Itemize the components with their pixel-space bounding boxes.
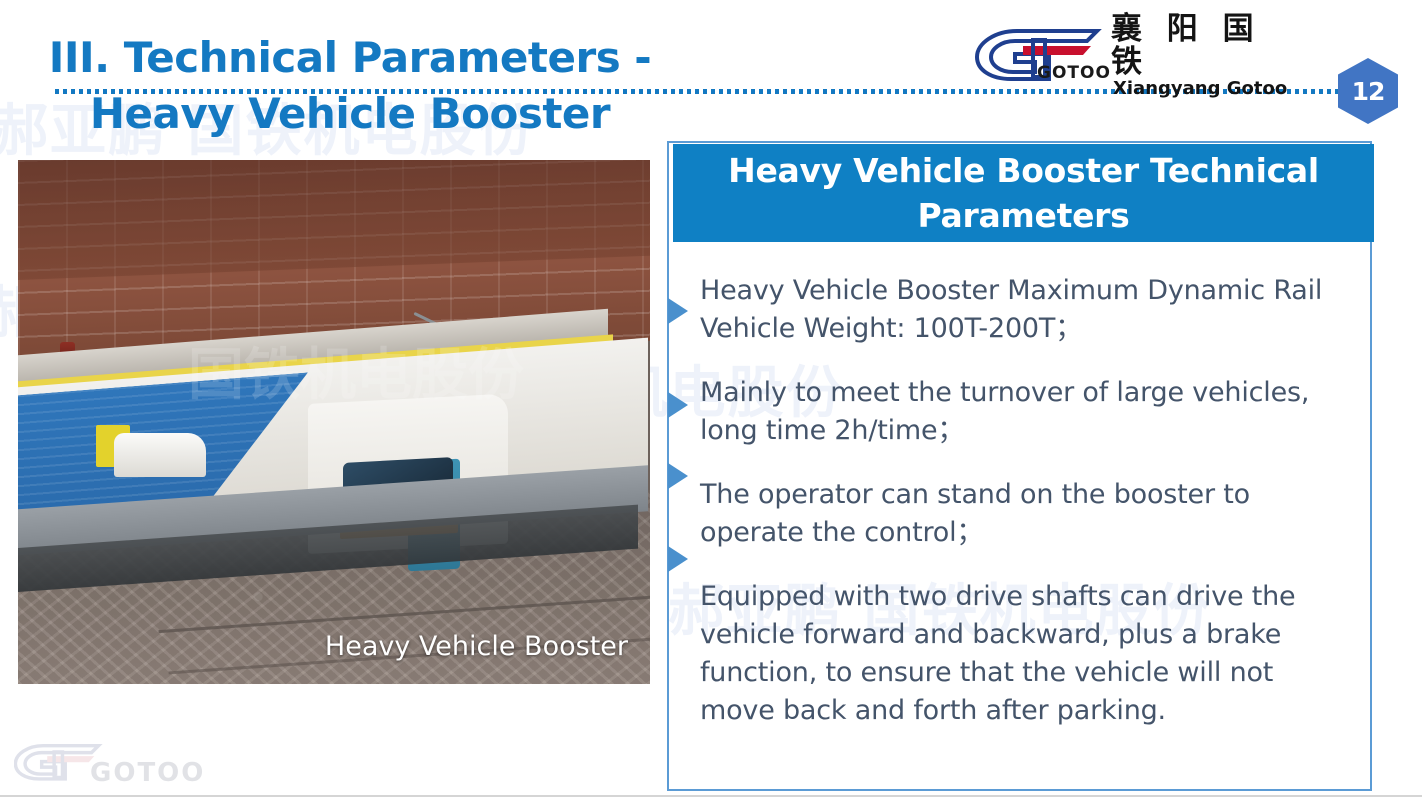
list-item: Heavy Vehicle Booster Maximum Dynamic Ra… bbox=[700, 272, 1350, 348]
logo-pinyin-name: Xiangyang Gotoo bbox=[1113, 79, 1295, 99]
gotoo-wordmark: GOTOO bbox=[1037, 63, 1111, 83]
company-logo: GOTOO 襄 阳 国 铁 Xiangyang Gotoo bbox=[975, 25, 1295, 87]
page-title: III. Technical Parameters - Heavy Vehicl… bbox=[0, 30, 700, 142]
logo-chinese-block: 襄 阳 国 铁 Xiangyang Gotoo bbox=[1105, 13, 1295, 99]
list-item: Mainly to meet the turnover of large veh… bbox=[700, 374, 1350, 450]
photo-caption: Heavy Vehicle Booster bbox=[325, 631, 628, 662]
page-title-line-1: III. Technical Parameters - bbox=[0, 30, 700, 86]
page-number-text: 12 bbox=[1352, 77, 1385, 106]
bullet-arrow-icon bbox=[668, 463, 688, 489]
list-item: Equipped with two drive shafts can drive… bbox=[700, 578, 1350, 730]
list-item: The operator can stand on the booster to… bbox=[700, 476, 1350, 552]
footer-divider bbox=[0, 795, 1422, 797]
page-title-line-2: Heavy Vehicle Booster bbox=[0, 86, 700, 142]
gotoo-logo-icon: GOTOO bbox=[975, 27, 1105, 85]
parameters-panel-header: Heavy Vehicle Booster Technical Paramete… bbox=[673, 144, 1374, 242]
booster-device bbox=[96, 425, 204, 477]
parameters-panel-title: Heavy Vehicle Booster Technical Paramete… bbox=[673, 148, 1374, 238]
bullet-arrow-icon bbox=[668, 392, 688, 418]
booster-white-shell bbox=[114, 433, 206, 477]
hexagon-shape: 12 bbox=[1338, 58, 1398, 124]
bullet-arrow-icon bbox=[668, 298, 688, 324]
product-photo: 国铁机电股份 Heavy Vehicle Booster bbox=[18, 160, 650, 684]
bullet-arrow-icon bbox=[668, 546, 688, 572]
slide-canvas: 郝亚鹏 国铁机电股份 郝亚鹏 国铁机电股份 郝亚鹏 国铁机电股份 郝亚鹏 国铁机… bbox=[0, 0, 1422, 802]
logo-chinese-name: 襄 阳 国 铁 bbox=[1111, 13, 1295, 79]
parameters-list: Heavy Vehicle Booster Maximum Dynamic Ra… bbox=[700, 272, 1350, 730]
page-number-badge: 12 bbox=[1338, 58, 1398, 124]
footer-logo-text: GOTOO bbox=[90, 758, 205, 788]
photo-watermark: 国铁机电股份 bbox=[188, 330, 524, 411]
footer-logo: GOTOO bbox=[14, 738, 214, 794]
